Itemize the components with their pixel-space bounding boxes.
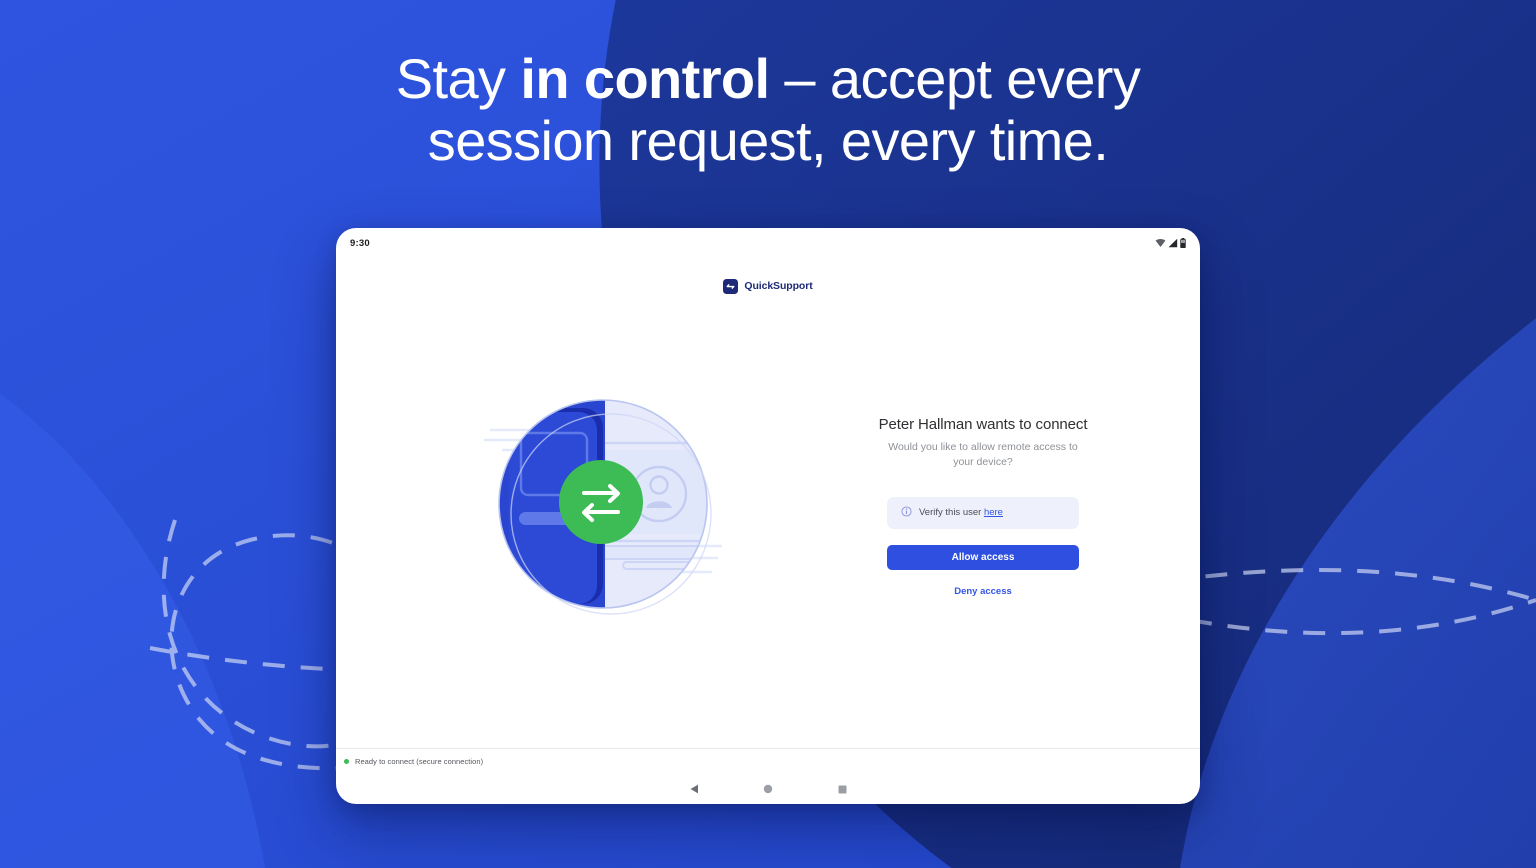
info-circle-icon [901, 504, 912, 522]
status-bar-icons [1155, 238, 1186, 248]
verify-user-banner[interactable]: Verify this user here [887, 497, 1079, 529]
headline-line-2: session request, every time. [0, 110, 1536, 172]
headline-part-1: Stay [396, 47, 521, 110]
signal-icon [1168, 238, 1178, 248]
quicksupport-logo-icon [723, 279, 738, 294]
verify-here-link[interactable]: here [984, 507, 1003, 518]
verify-user-text: Verify this user here [919, 507, 1003, 518]
transfer-badge [559, 460, 643, 544]
app-name-label: QuickSupport [744, 280, 812, 292]
battery-icon [1180, 238, 1186, 248]
wifi-icon [1155, 238, 1166, 248]
home-circle-icon[interactable] [757, 778, 779, 800]
remote-connection-illustration [483, 386, 723, 626]
connection-request-panel: Peter Hallman wants to connect Would you… [818, 416, 1148, 597]
headline-emphasis: in control [520, 47, 769, 110]
verify-label: Verify this user [919, 507, 984, 518]
app-header: QuickSupport [336, 268, 1200, 304]
tablet-device: 9:30 QuickSu [336, 228, 1200, 804]
recents-square-icon[interactable] [831, 778, 853, 800]
poster-stage: Stay in control – accept every session r… [0, 0, 1536, 868]
deny-access-button[interactable]: Deny access [954, 586, 1012, 597]
connection-status-text: Ready to connect (secure connection) [355, 757, 483, 766]
illustration-column [388, 386, 818, 626]
android-nav-bar [336, 774, 1200, 804]
connection-status-bar: Ready to connect (secure connection) [336, 748, 1200, 774]
headline-line-1: Stay in control – accept every [0, 48, 1536, 110]
status-bar-time: 9:30 [350, 238, 370, 249]
request-title: Peter Hallman wants to connect [879, 416, 1088, 433]
headline-part-2: – accept every [769, 47, 1140, 110]
app-main-content: Peter Hallman wants to connect Would you… [336, 304, 1200, 748]
allow-access-button[interactable]: Allow access [887, 545, 1079, 570]
page-title: Stay in control – accept every session r… [0, 48, 1536, 172]
android-status-bar: 9:30 [336, 228, 1200, 258]
status-indicator-dot [344, 759, 349, 764]
request-subtitle: Would you like to allow remote access to… [885, 440, 1081, 470]
back-triangle-icon[interactable] [683, 778, 705, 800]
